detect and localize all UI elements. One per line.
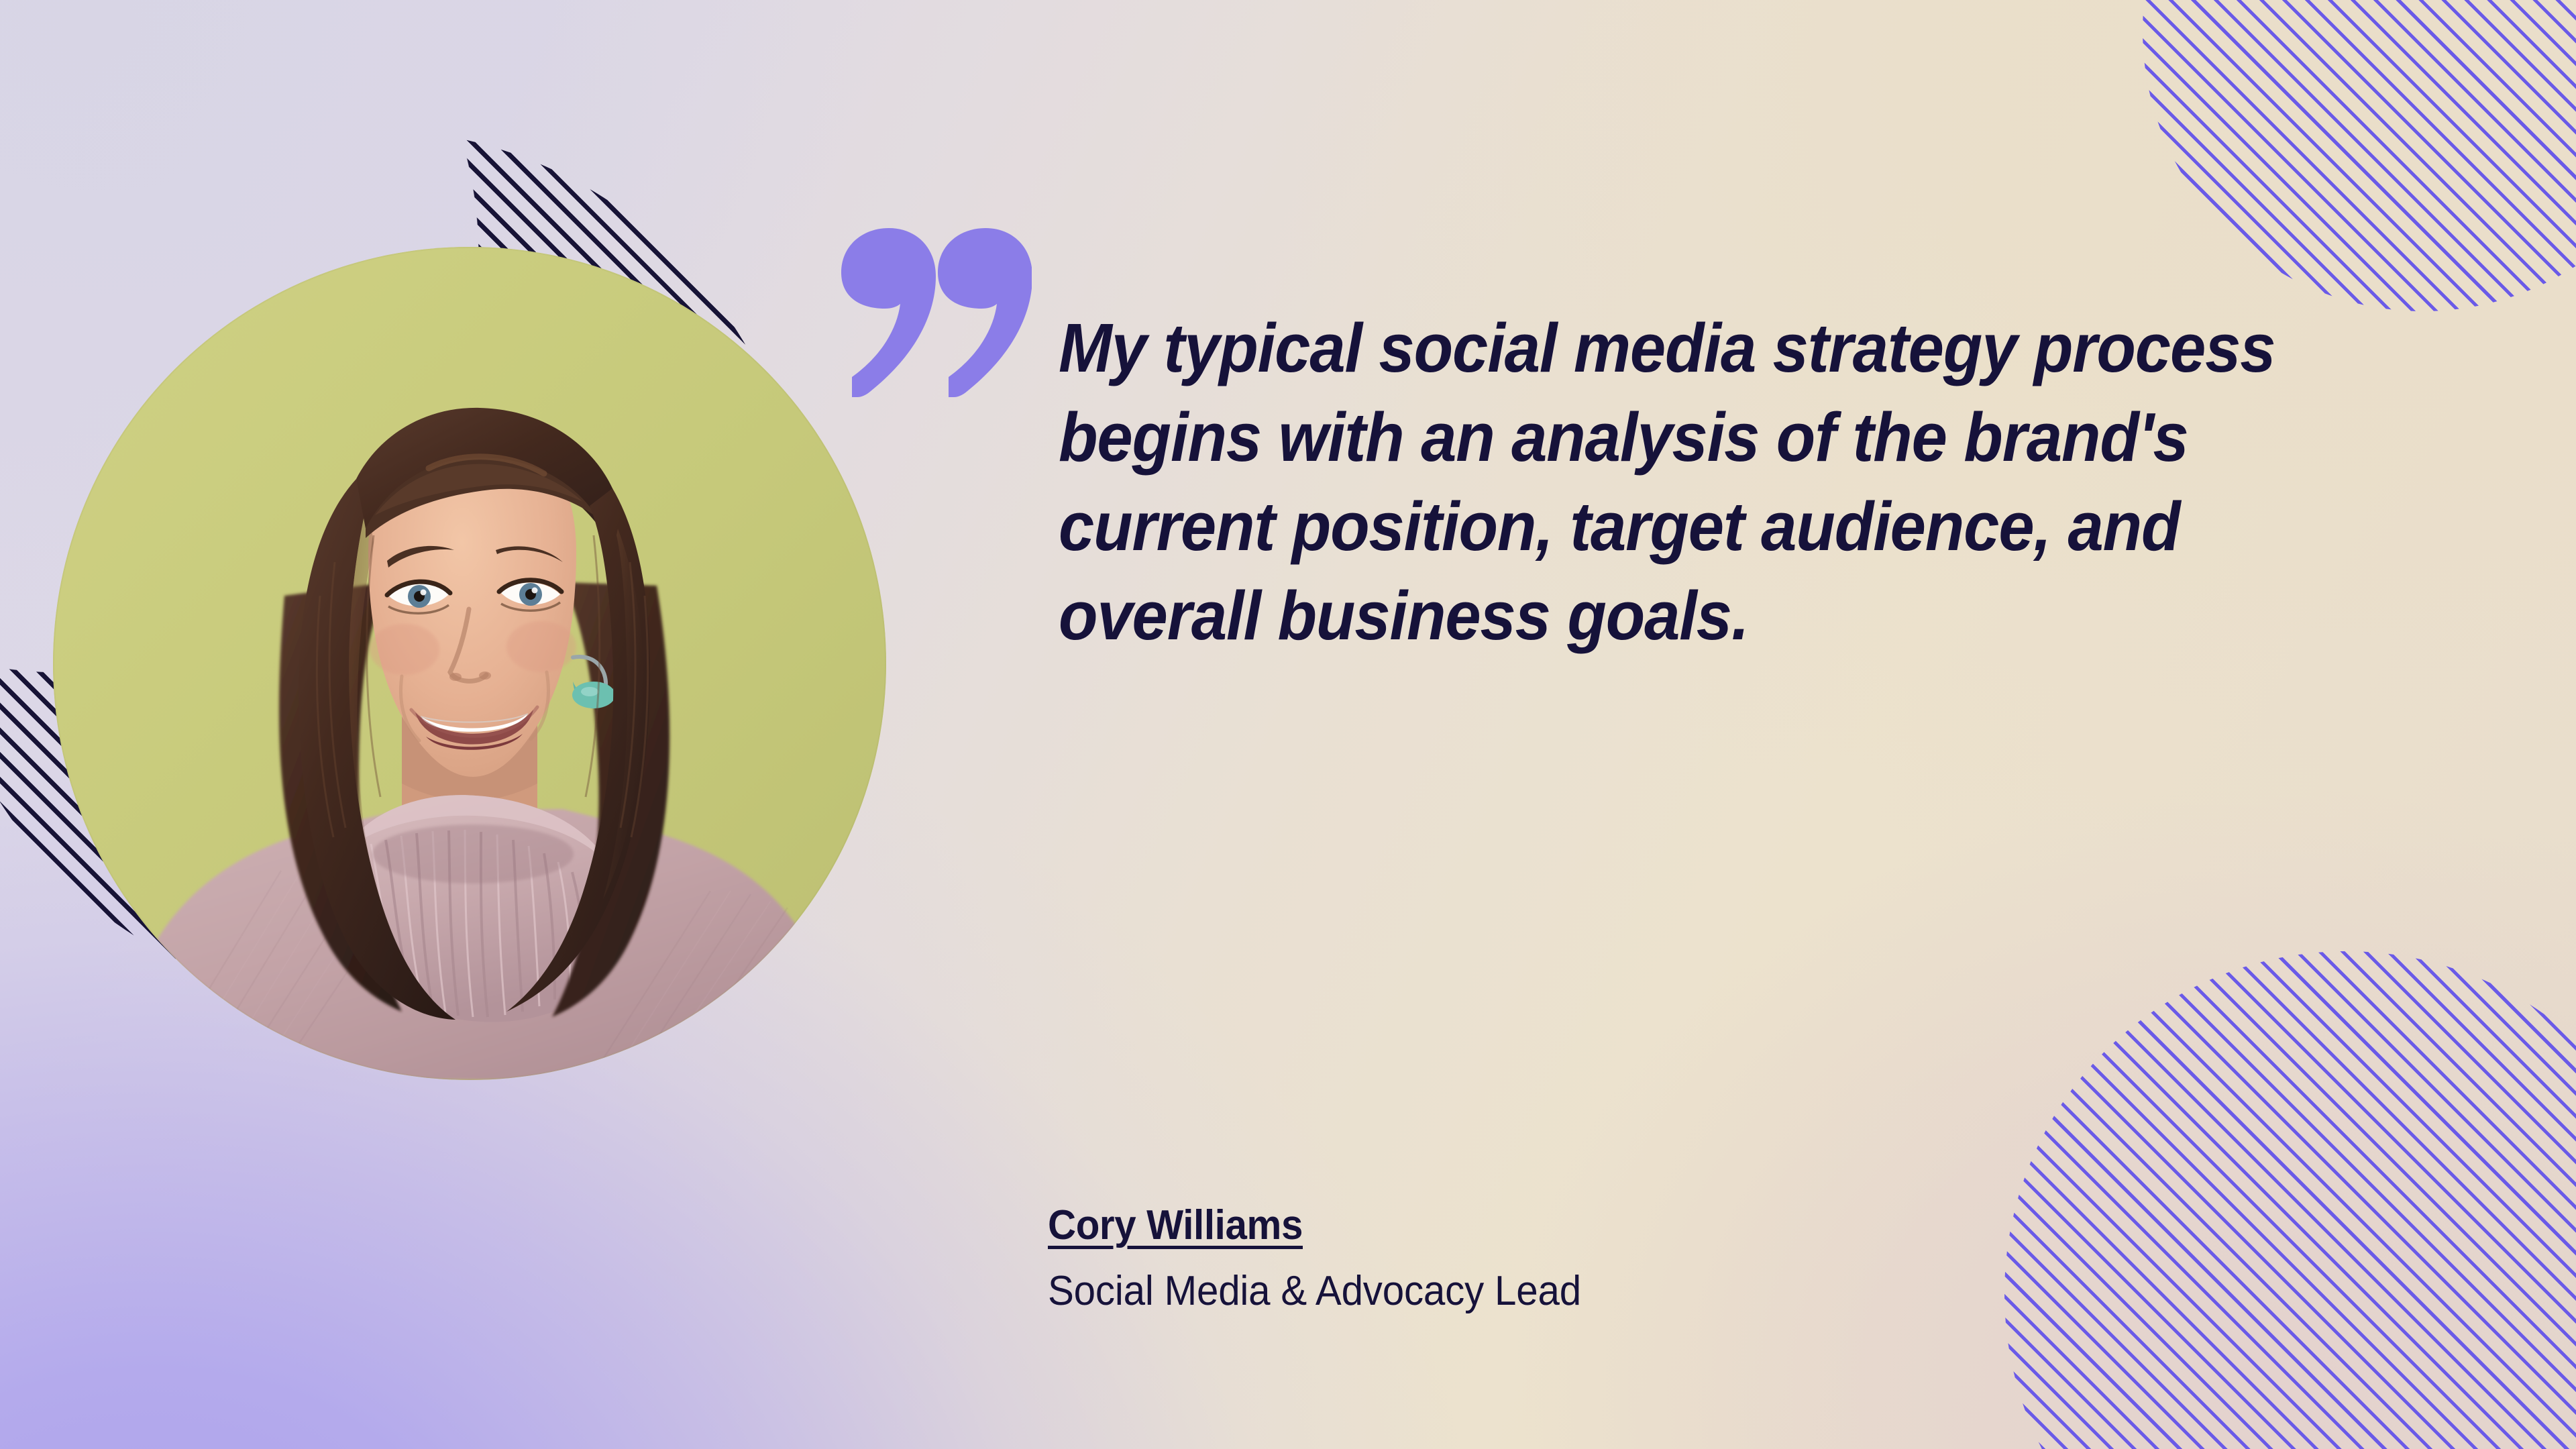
quote-text: My typical social media strategy process… bbox=[1059, 303, 2338, 660]
testimonial-card: My typical social media strategy process… bbox=[0, 0, 2576, 1449]
author-role: Social Media & Advocacy Lead bbox=[1048, 1265, 1931, 1318]
avatar bbox=[53, 247, 886, 1080]
portrait-group bbox=[53, 247, 886, 1080]
closing-double-quote-icon bbox=[830, 228, 1032, 402]
author-name: Cory Williams bbox=[1048, 1201, 1303, 1250]
attribution: Cory Williams Social Media & Advocacy Le… bbox=[1048, 1201, 1931, 1318]
portrait-illustration bbox=[53, 247, 886, 1080]
